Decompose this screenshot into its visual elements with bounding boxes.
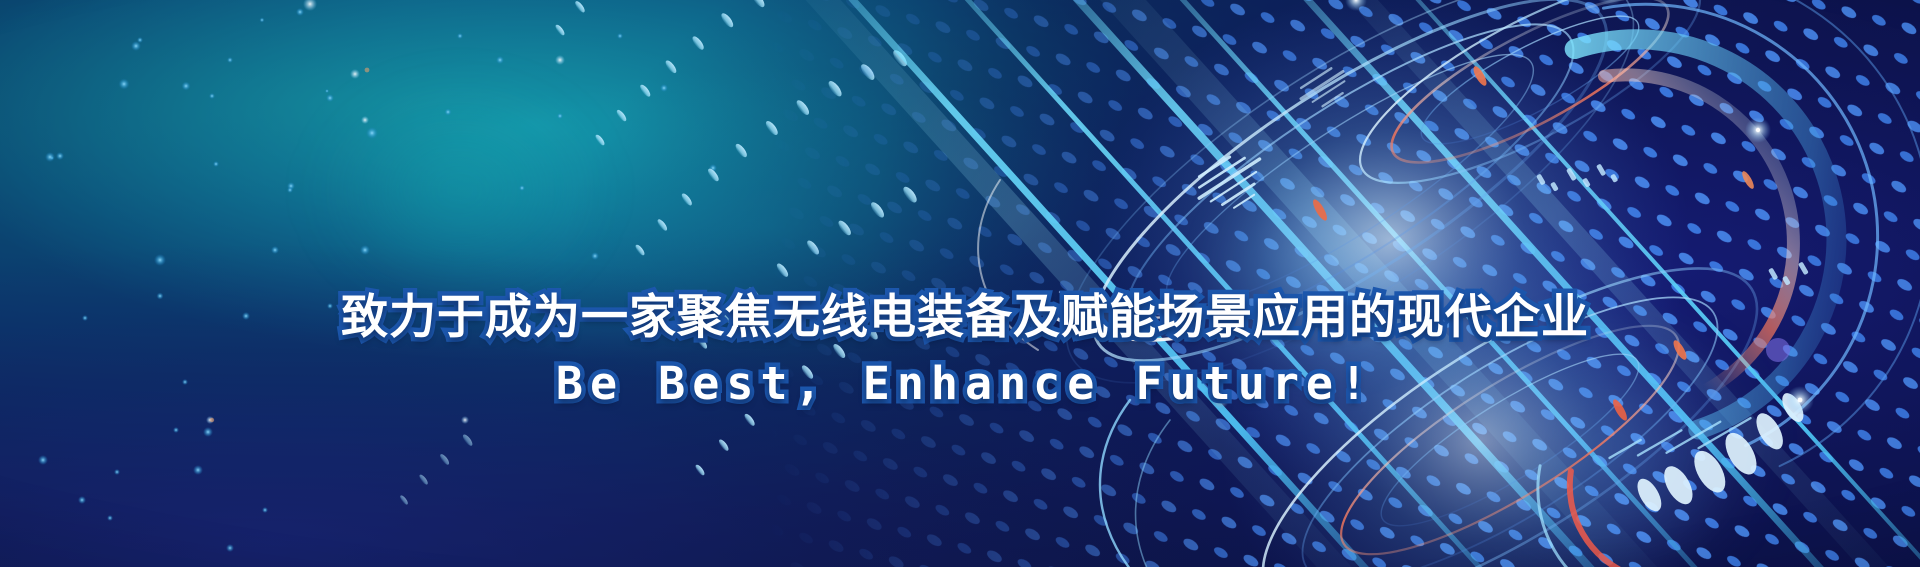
hero-banner: 致力于成为一家聚焦无线电装备及赋能场景应用的现代企业 Be Best, Enha… (0, 0, 1920, 567)
vignette-overlay (0, 0, 1920, 567)
